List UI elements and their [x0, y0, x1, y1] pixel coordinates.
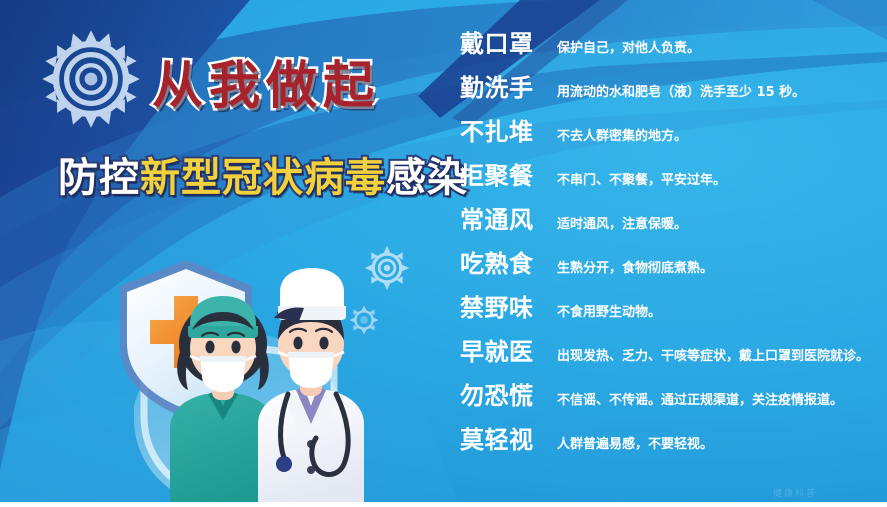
subtitle-part-prevention: 防控 [58, 155, 140, 201]
tips-list: 戴口罩 保护自己，对他人负责。 勤洗手 用流动的水和肥皂（液）洗手至少 15 秒… [460, 24, 880, 464]
tip-description: 不去人群密集的地方。 [557, 125, 687, 144]
tip-title: 吃熟食 [460, 244, 552, 279]
subtitle-part-infection: 感染 [386, 155, 468, 201]
tip-row: 勿恐慌 不信谣、不传谣。通过正规渠道，关注疫情报道。 [460, 376, 880, 420]
bottom-strip [0, 502, 887, 507]
tip-description: 不食用野生动物。 [557, 301, 661, 320]
virus-icon [38, 26, 144, 132]
tip-description: 不串门、不聚餐，平安过年。 [557, 169, 726, 188]
tip-description: 用流动的水和肥皂（液）洗手至少 15 秒。 [557, 81, 805, 100]
tip-title: 拒聚餐 [460, 156, 552, 191]
tip-description: 人群普遍易感，不要轻视。 [557, 433, 713, 452]
tip-row: 勤洗手 用流动的水和肥皂（液）洗手至少 15 秒。 [460, 68, 880, 112]
tip-title: 勿恐慌 [460, 376, 552, 411]
tip-description: 保护自己，对他人负责。 [557, 37, 700, 56]
tip-row: 莫轻视 人群普遍易感，不要轻视。 [460, 420, 880, 464]
poster-headline: 从我做起 [152, 54, 452, 122]
subtitle-part-virus: 新型冠状病毒 [140, 155, 386, 201]
headline-text: 从我做起 [152, 54, 452, 120]
tip-description: 出现发热、乏力、干咳等症状，戴上口罩到医院就诊。 [557, 345, 869, 364]
tip-title: 常通风 [460, 200, 552, 235]
medical-workers-illustration [108, 248, 380, 507]
tip-title: 禁野味 [460, 288, 552, 323]
tip-title: 不扎堆 [460, 112, 552, 147]
stethoscope-chestpiece [276, 456, 292, 472]
poster-subtitle: 防控新型冠状病毒感染 [58, 152, 468, 204]
tip-description: 生熟分开，食物彻底煮熟。 [557, 257, 713, 276]
tip-row: 不扎堆 不去人群密集的地方。 [460, 112, 880, 156]
tip-row: 吃熟食 生熟分开，食物彻底煮熟。 [460, 244, 880, 288]
poster-root: 从我做起 防控新型冠状病毒感染 [0, 0, 887, 507]
tip-title: 莫轻视 [460, 420, 552, 455]
tip-title: 勤洗手 [460, 68, 552, 103]
tip-title: 早就医 [460, 332, 552, 367]
tip-title: 戴口罩 [460, 24, 552, 59]
tip-row: 常通风 适时通风，注意保暖。 [460, 200, 880, 244]
tip-description: 适时通风，注意保暖。 [557, 213, 687, 232]
watermark-text: 健康科普 [773, 486, 817, 499]
tip-row: 拒聚餐 不串门、不聚餐，平安过年。 [460, 156, 880, 200]
tip-row: 戴口罩 保护自己，对他人负责。 [460, 24, 880, 68]
tip-row: 早就医 出现发热、乏力、干咳等症状，戴上口罩到医院就诊。 [460, 332, 880, 376]
tip-row: 禁野味 不食用野生动物。 [460, 288, 880, 332]
tip-description: 不信谣、不传谣。通过正规渠道，关注疫情报道。 [557, 389, 843, 408]
